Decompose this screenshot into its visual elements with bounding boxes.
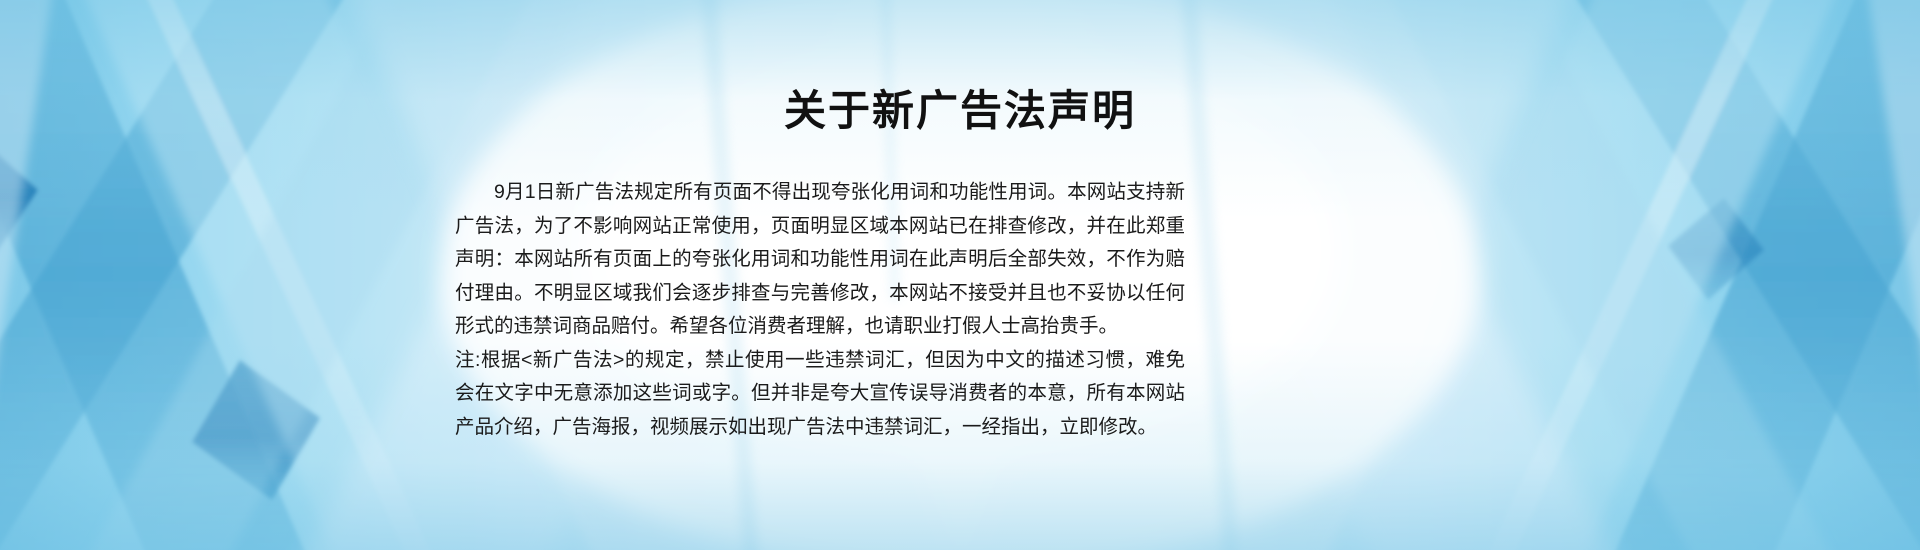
statement-paragraph-2: 注:根据<新广告法>的规定，禁止使用一些违禁词汇，但因为中文的描述习惯，难免会在…	[455, 344, 1185, 445]
statement-body: 9月1日新广告法规定所有页面不得出现夸张化用词和功能性用词。本网站支持新广告法，…	[455, 176, 1185, 444]
advertising-law-statement-banner: 关于新广告法声明 9月1日新广告法规定所有页面不得出现夸张化用词和功能性用词。本…	[0, 0, 1920, 550]
statement-content: 关于新广告法声明 9月1日新广告法规定所有页面不得出现夸张化用词和功能性用词。本…	[0, 0, 1920, 550]
page-title: 关于新广告法声明	[0, 88, 1920, 134]
statement-paragraph-1: 9月1日新广告法规定所有页面不得出现夸张化用词和功能性用词。本网站支持新广告法，…	[455, 176, 1185, 344]
